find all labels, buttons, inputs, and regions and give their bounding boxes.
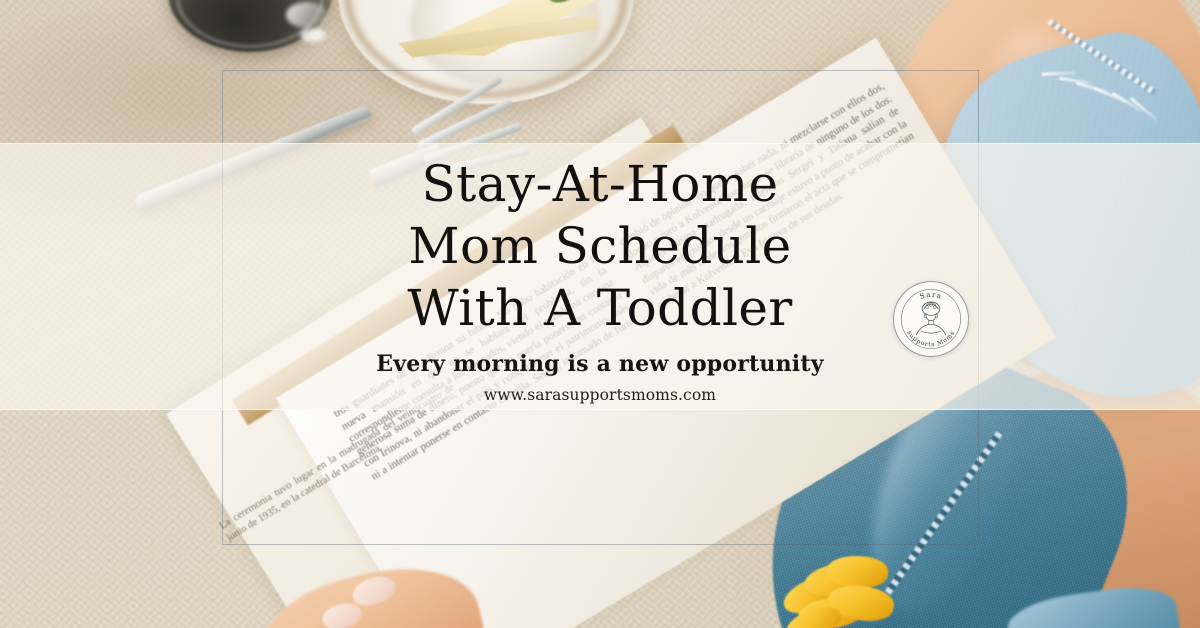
headline-line-1: Stay-At-Home: [407, 153, 792, 215]
yellow-flower: [782, 556, 904, 628]
logo-bottom-arc-text: supports Moms: [905, 330, 956, 349]
drinking-glass-highlight: [286, 2, 328, 28]
site-url: www.sarasupportsmoms.com: [484, 386, 716, 404]
svg-text:Sara: Sara: [919, 290, 944, 301]
logo-top-arc-text: Sara: [919, 290, 944, 301]
pin-graphic-canvas: tros guardianes de Eva Ironna su futuro.…: [0, 0, 1200, 628]
headline-line-3: With A Toddler: [407, 277, 792, 339]
woman-line-art-icon: Sara supports Moms: [894, 282, 968, 356]
svg-text:supports Moms: supports Moms: [905, 330, 956, 349]
brand-logo-badge[interactable]: Sara supports Moms: [893, 281, 969, 357]
drinking-glass-highlight-secondary: [300, 28, 326, 42]
tagline: Every morning is a new opportunity: [376, 351, 823, 377]
page-title: Stay-At-Home Mom Schedule With A Toddler: [407, 153, 792, 339]
headline-line-2: Mom Schedule: [407, 215, 792, 277]
text-content-block: Stay-At-Home Mom Schedule With A Toddler…: [0, 143, 1200, 410]
